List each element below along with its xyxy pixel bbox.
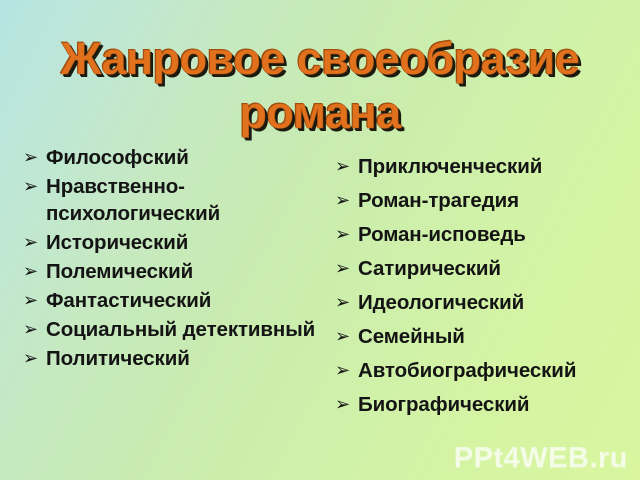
arrow-bullet-icon: ➢: [335, 153, 350, 180]
arrow-bullet-icon: ➢: [23, 316, 38, 343]
genre-right-label: Роман-исповедь: [358, 221, 640, 248]
genre-right-label: Сатирический: [358, 255, 640, 282]
list-item: ➢Философский: [22, 144, 320, 171]
genre-right-label: Автобиографический: [358, 357, 640, 384]
genre-right-label: Идеологический: [358, 289, 640, 316]
page-title: Жанровое своеобразие романа: [0, 32, 640, 140]
genre-right-label: Приключенческий: [358, 153, 640, 180]
list-item: ➢Сатирический: [334, 255, 640, 282]
list-item: ➢Роман-трагедия: [334, 187, 640, 214]
list-item: ➢Политический: [22, 345, 320, 372]
watermark: PPt4WEB.ru: [454, 442, 628, 475]
genre-right-label: Биографический: [358, 391, 640, 418]
content-columns: ➢Философский➢Нравственно-психологический…: [0, 140, 640, 470]
genre-right-label: Семейный: [358, 323, 640, 350]
list-item: ➢Фантастический: [22, 287, 320, 314]
genre-left-label: Философский: [46, 144, 320, 171]
arrow-bullet-icon: ➢: [335, 323, 350, 350]
arrow-bullet-icon: ➢: [335, 255, 350, 282]
genre-list-right-column: ➢Приключенческий➢Роман-трагедия➢Роман-ис…: [320, 140, 640, 425]
arrow-bullet-icon: ➢: [23, 144, 38, 171]
list-item: ➢Исторический: [22, 229, 320, 256]
arrow-bullet-icon: ➢: [23, 287, 38, 314]
list-item: ➢Нравственно-психологический: [22, 173, 320, 227]
list-item: ➢Идеологический: [334, 289, 640, 316]
list-item: ➢Приключенческий: [334, 153, 640, 180]
genre-left-label: Политический: [46, 345, 320, 372]
arrow-bullet-icon: ➢: [335, 221, 350, 248]
arrow-bullet-icon: ➢: [23, 173, 38, 200]
slide-canvas: Жанровое своеобразие романа ➢Философский…: [0, 0, 640, 480]
arrow-bullet-icon: ➢: [335, 391, 350, 418]
arrow-bullet-icon: ➢: [335, 289, 350, 316]
genre-left-label: Полемический: [46, 258, 320, 285]
bullet-list-right: ➢Приключенческий➢Роман-трагедия➢Роман-ис…: [334, 153, 640, 418]
genre-left-label: Фантастический: [46, 287, 320, 314]
bullet-list-left: ➢Философский➢Нравственно-психологический…: [22, 144, 320, 372]
list-item: ➢Социальный детективный: [22, 316, 320, 343]
list-item: ➢Биографический: [334, 391, 640, 418]
list-item: ➢Полемический: [22, 258, 320, 285]
list-item: ➢Семейный: [334, 323, 640, 350]
list-item: ➢Роман-исповедь: [334, 221, 640, 248]
genre-left-label: Социальный детективный: [46, 316, 320, 343]
arrow-bullet-icon: ➢: [23, 345, 38, 372]
genre-left-label: Исторический: [46, 229, 320, 256]
list-item: ➢Автобиографический: [334, 357, 640, 384]
arrow-bullet-icon: ➢: [335, 357, 350, 384]
arrow-bullet-icon: ➢: [23, 229, 38, 256]
genre-right-label: Роман-трагедия: [358, 187, 640, 214]
arrow-bullet-icon: ➢: [23, 258, 38, 285]
genre-list-left-column: ➢Философский➢Нравственно-психологический…: [0, 140, 320, 374]
arrow-bullet-icon: ➢: [335, 187, 350, 214]
genre-left-label: Нравственно-психологический: [46, 173, 320, 227]
